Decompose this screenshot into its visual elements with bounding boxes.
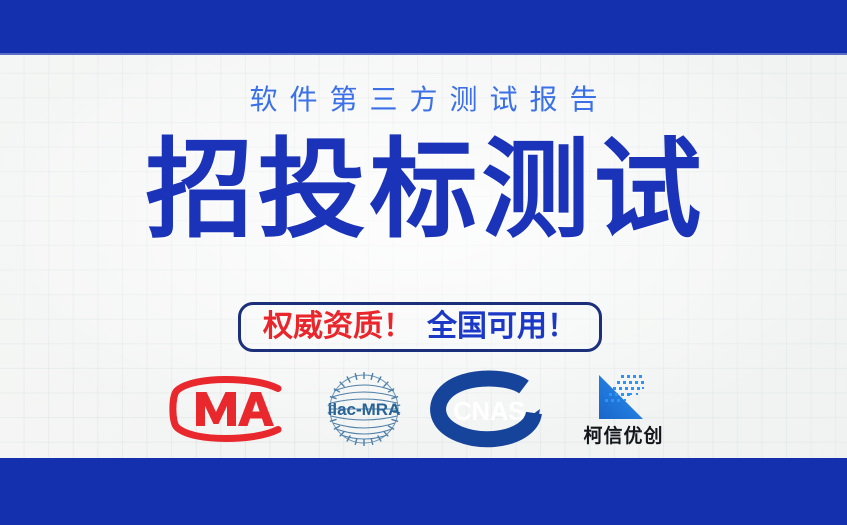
kexin-wordmark: 柯信优创 [583,425,663,447]
bottom-blue-bar [0,458,847,525]
top-blue-bar [0,0,847,55]
poster-content: 软件第三方测试报告 招投标测试 权威资质！ 全国可用！ [0,55,847,458]
claim-text-authority: 权威资质！ [263,310,413,344]
poster-subtitle: 软件第三方测试报告 [0,80,847,120]
kexin-mark-icon [596,372,652,422]
kexin-logo: 柯信优创 [568,367,680,451]
poster-canvas: 软件第三方测试报告 招投标测试 权威资质！ 全国可用！ [0,0,847,525]
ilac-mra-logo: ilac-MRA [316,369,412,449]
accreditation-logo-row: ilac-MRA CNAS [0,365,847,453]
cma-logo [168,378,296,440]
ilac-mra-wordmark: ilac-MRA [327,400,400,419]
cma-letter-m [196,392,236,426]
claim-badge: 权威资质！ 全国可用！ [238,302,602,352]
cnas-logo: CNAS [432,373,548,445]
poster-headline: 招投标测试 [0,131,847,251]
cma-letter-a [238,392,274,426]
claim-text-nationwide: 全国可用！ [427,310,577,344]
cnas-wordmark: CNAS [453,396,525,426]
